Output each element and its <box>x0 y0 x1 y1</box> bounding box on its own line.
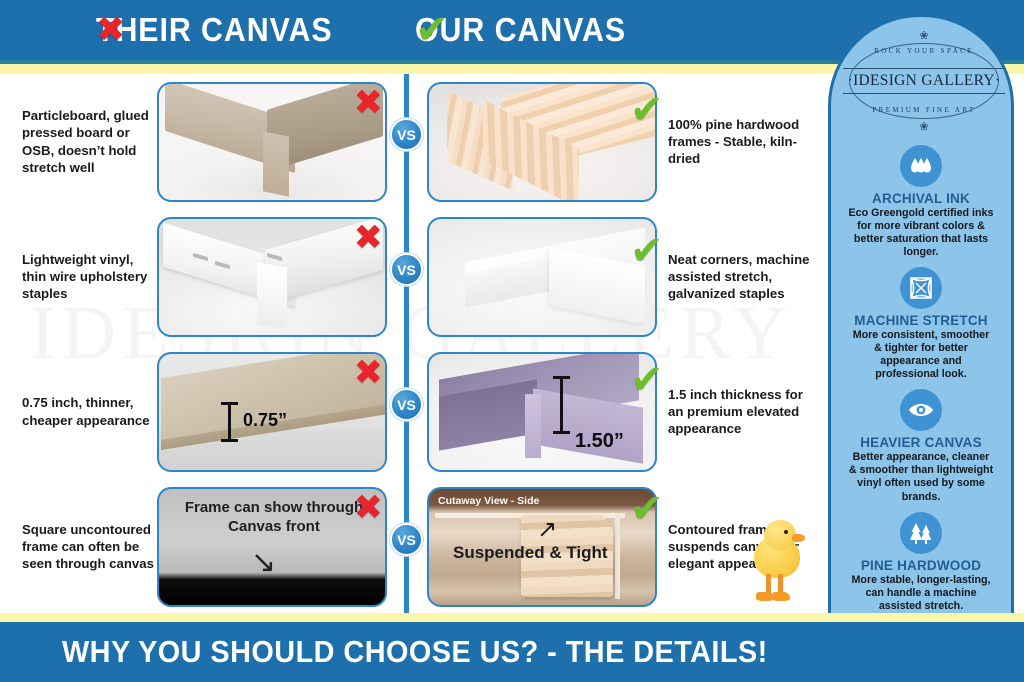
vs-badge: VS <box>390 388 423 421</box>
vs-badge: VS <box>390 523 423 556</box>
footer-yellow-stripe <box>0 613 1024 622</box>
vs-badge: VS <box>390 253 423 286</box>
their-description: Square uncontoured frame can often be se… <box>22 479 154 614</box>
our-description: 1.5 inch thickness for an premium elevat… <box>668 344 816 479</box>
their-description: Particleboard, glued pressed board or OS… <box>22 74 154 209</box>
particleboard-thickness-photo: 0.75” ✖ <box>157 352 387 472</box>
stretched-canvas-icon <box>900 267 942 309</box>
purple-canvas-thickness-photo: 1.50” <box>427 352 657 472</box>
feature-archival-ink: ARCHIVAL INK Eco Greengold certified ink… <box>841 137 1001 259</box>
pine-hardwood-frame-corner-photo <box>427 82 657 202</box>
check-mark-icon: ✔ <box>630 360 664 400</box>
x-mark-icon: ✖ <box>354 221 383 256</box>
comparison-area: Particleboard, glued pressed board or OS… <box>0 74 820 613</box>
x-mark-icon: ✖ <box>354 86 383 121</box>
footer-title: WHY YOU SHOULD CHOOSE US? - THE DETAILS! <box>62 634 768 670</box>
check-mark-icon: ✔ <box>415 10 449 50</box>
check-mark-icon: ✔ <box>630 90 664 130</box>
comparison-row: Particleboard, glued pressed board or OS… <box>0 74 820 209</box>
logo-flourish-top-icon: ❀ <box>841 29 1007 42</box>
cutaway-view-badge: Cutaway View - Side <box>438 495 539 507</box>
comparison-row: Square uncontoured frame can often be se… <box>0 479 820 614</box>
arrow-up-right-icon: ↗ <box>537 515 557 543</box>
vinyl-canvas-corner-staples-photo: ✖ <box>157 217 387 337</box>
their-thickness-label: 0.75” <box>243 410 287 431</box>
comparison-row: Lightweight vinyl, thin wire upholstery … <box>0 209 820 344</box>
arrow-down-icon: ↘ <box>251 545 276 580</box>
x-mark-icon: ✖ <box>354 356 383 391</box>
our-description: Neat corners, machine assisted stretch, … <box>668 209 816 344</box>
feature-description: More consistent, smoother & tighter for … <box>848 329 994 381</box>
check-mark-icon: ✔ <box>630 231 664 271</box>
particleboard-frame-corner-photo: ✖ <box>157 82 387 202</box>
comparison-row: 0.75 inch, thinner, cheaper appearance 0… <box>0 344 820 479</box>
infographic-page: IDESIGN GALLERY THEIR CANVAS ✖ OUR CANVA… <box>0 0 1024 682</box>
header-our-group: OUR CANVAS ✔ <box>415 11 644 49</box>
pine-trees-icon <box>900 512 942 554</box>
their-description: Lightweight vinyl, thin wire upholstery … <box>22 209 154 344</box>
feature-title: MACHINE STRETCH <box>848 313 994 328</box>
brand-feature-sidebar: ❀ ROCK YOUR SPACE ·IDESIGN GALLERY· PREM… <box>828 14 1014 668</box>
logo-tagline-bottom: PREMIUM FINE ART <box>841 106 1007 114</box>
feature-title: ARCHIVAL INK <box>848 191 994 206</box>
x-mark-icon: ✖ <box>96 13 125 48</box>
check-mark-icon: ✔ <box>630 489 664 529</box>
water-drops-icon <box>900 145 942 187</box>
header-their-group: THEIR CANVAS ✖ <box>96 11 353 49</box>
logo-tagline-top: ROCK YOUR SPACE <box>841 47 1007 55</box>
suspended-tight-caption: Suspended & Tight <box>453 543 608 563</box>
eye-icon <box>900 389 942 431</box>
cutaway-contoured-frame-photo: Cutaway View - Side ↗ Suspended & Tight <box>427 487 657 607</box>
header-their-title: THEIR CANVAS <box>96 11 333 49</box>
feature-heavier-canvas: HEAVIER CANVAS Better appearance, cleane… <box>841 381 1001 503</box>
feature-description: Eco Greengold certified inks for more vi… <box>848 207 994 259</box>
neat-white-canvas-corner-photo <box>427 217 657 337</box>
feature-pine-hardwood: PINE HARDWOOD More stable, longer-lastin… <box>841 504 1001 613</box>
feature-description: More stable, longer-lasting, can handle … <box>848 574 994 613</box>
duckling-mascot-image <box>748 520 810 616</box>
our-description: 100% pine hardwood frames - Stable, kiln… <box>668 74 816 209</box>
feature-machine-stretch: MACHINE STRETCH More consistent, smoothe… <box>841 259 1001 381</box>
vs-badge: VS <box>390 118 423 151</box>
idesign-gallery-logo: ❀ ROCK YOUR SPACE ·IDESIGN GALLERY· PREM… <box>841 29 1007 133</box>
frame-showing-through-canvas-photo: Frame can show through Canvas front ↘ ✖ <box>157 487 387 607</box>
logo-flourish-bottom-icon: ❀ <box>841 120 1007 133</box>
our-thickness-label: 1.50” <box>575 430 624 453</box>
feature-title: PINE HARDWOOD <box>848 558 994 573</box>
feature-description: Better appearance, cleaner & smoother th… <box>848 451 994 503</box>
their-description: 0.75 inch, thinner, cheaper appearance <box>22 344 154 479</box>
x-mark-icon: ✖ <box>354 491 383 526</box>
feature-title: HEAVIER CANVAS <box>848 435 994 450</box>
footer-bar: WHY YOU SHOULD CHOOSE US? - THE DETAILS! <box>0 622 1024 682</box>
